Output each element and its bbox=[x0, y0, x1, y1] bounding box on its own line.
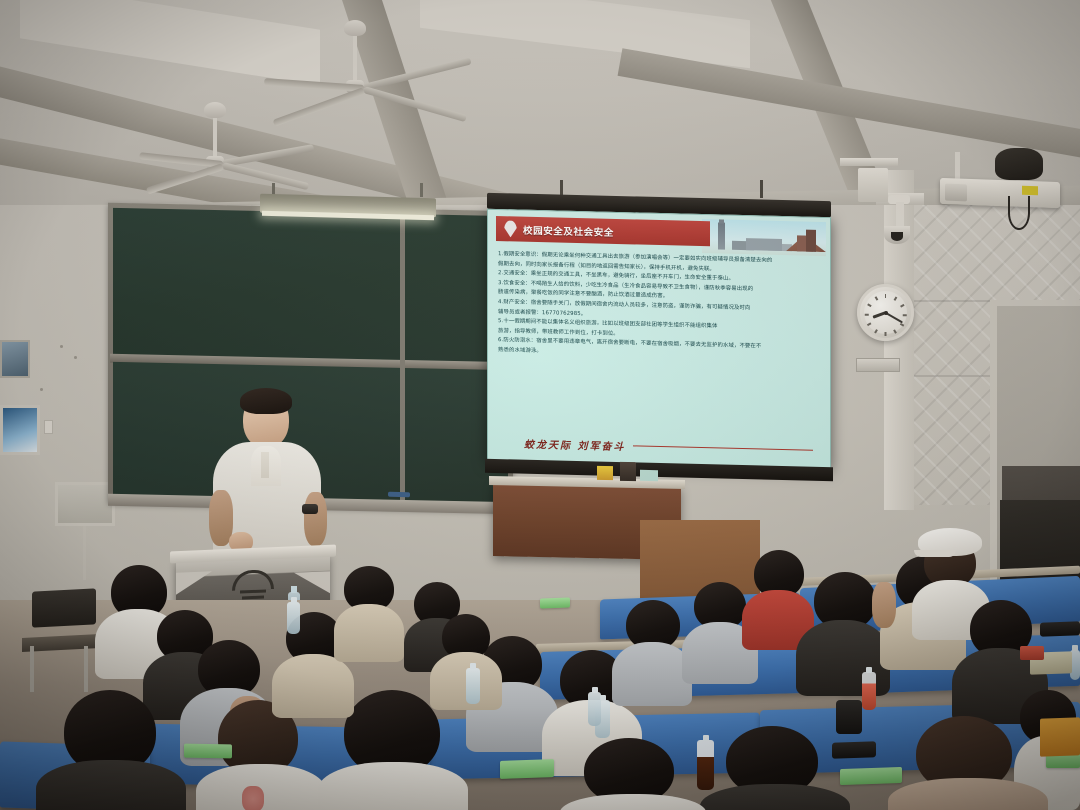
chair-back bbox=[32, 588, 96, 627]
projector-cable bbox=[1008, 196, 1030, 230]
student-shoulders bbox=[318, 762, 468, 810]
clock-face bbox=[864, 291, 907, 334]
clock-tick bbox=[885, 332, 887, 336]
student-shoulders bbox=[334, 604, 404, 662]
projector-warning-label bbox=[1022, 186, 1038, 196]
student-19 bbox=[700, 726, 850, 810]
side-chair[interactable] bbox=[22, 590, 96, 676]
student-20 bbox=[560, 738, 706, 810]
clock-center-pin bbox=[884, 311, 888, 315]
student-18 bbox=[888, 716, 1048, 810]
student-3 bbox=[36, 690, 186, 810]
clock-tick bbox=[900, 304, 904, 307]
clock-minute-hand bbox=[885, 312, 902, 323]
clock-tick bbox=[903, 314, 907, 316]
water-bottle-pink[interactable] bbox=[862, 672, 876, 710]
emblem-bar bbox=[242, 596, 264, 600]
projection-screen[interactable]: 校园安全及社会安全 1.假期安全意识：假期无论乘坐何种交通工具出去旅游（参加演唱… bbox=[487, 209, 831, 469]
podium-wing-right bbox=[294, 571, 330, 595]
wristwatch bbox=[302, 504, 318, 514]
clock-tick bbox=[900, 323, 904, 326]
green-notebook[interactable] bbox=[500, 759, 554, 779]
wall-picture-frame bbox=[0, 405, 40, 455]
banner-tower bbox=[806, 230, 816, 252]
clock-tick bbox=[874, 296, 877, 300]
projector-lens bbox=[945, 184, 967, 202]
wall-mark bbox=[74, 356, 77, 359]
wall-poster bbox=[0, 340, 30, 378]
student-shoulders bbox=[700, 784, 850, 810]
presenter-right-arm bbox=[304, 492, 327, 546]
emblem-bar bbox=[240, 589, 266, 593]
campus-skyline-banner bbox=[702, 219, 826, 256]
student-shoulders bbox=[560, 794, 706, 810]
snack-pack[interactable] bbox=[1040, 717, 1080, 756]
banner-clock-tower bbox=[718, 222, 725, 249]
board-eraser[interactable] bbox=[388, 492, 410, 497]
camera-stem bbox=[896, 202, 904, 228]
slide-title: 校园安全及社会安全 bbox=[523, 222, 614, 238]
cap-brim bbox=[914, 550, 956, 557]
security-camera-dome-icon bbox=[884, 226, 910, 244]
slide-title-bar: 校园安全及社会安全 bbox=[496, 216, 710, 246]
student-7 bbox=[334, 566, 404, 658]
clock-tick bbox=[885, 294, 887, 298]
blackboard-upper-panel[interactable] bbox=[113, 208, 508, 364]
screen-hanger bbox=[760, 180, 763, 198]
desk-equipment-box[interactable] bbox=[620, 462, 636, 481]
student-shoulders bbox=[272, 654, 354, 718]
cable-bundle bbox=[995, 148, 1043, 180]
water-bottle[interactable] bbox=[287, 602, 300, 634]
green-notebook[interactable] bbox=[840, 767, 902, 785]
slide-signature: 蛟龙天际 刘军奋斗 bbox=[524, 436, 813, 458]
clock-tick bbox=[867, 323, 871, 326]
fan-canopy bbox=[344, 20, 366, 36]
podium-wing-left bbox=[176, 571, 212, 595]
blackboard-divider bbox=[400, 207, 405, 507]
wall-switch-plate[interactable] bbox=[44, 420, 53, 434]
thermos-cup[interactable] bbox=[836, 700, 862, 734]
presenter-head bbox=[243, 392, 289, 448]
emblem-arc bbox=[232, 569, 274, 591]
chair-leg bbox=[84, 646, 88, 692]
student-shoulders bbox=[888, 778, 1048, 810]
notice-board-stand bbox=[83, 526, 86, 580]
lamp-hanger bbox=[420, 183, 423, 197]
fan-rod bbox=[353, 30, 357, 82]
student-shoulders bbox=[612, 642, 692, 706]
wall-shelf bbox=[840, 158, 898, 166]
wall-notice-board bbox=[55, 482, 115, 526]
location-pin-icon bbox=[504, 220, 517, 237]
chair-leg bbox=[30, 646, 34, 692]
green-notebook[interactable] bbox=[184, 744, 232, 759]
snack-pack[interactable] bbox=[597, 466, 613, 480]
snack-pack[interactable] bbox=[1020, 646, 1044, 660]
presentation-slide: 校园安全及社会安全 1.假期安全意识：假期无论乘坐何种交通工具出去旅游（参加演唱… bbox=[488, 210, 830, 468]
clock-tick bbox=[865, 314, 869, 316]
ceiling-panel bbox=[20, 0, 320, 86]
smartphone[interactable] bbox=[1040, 621, 1080, 636]
student-raised-arm bbox=[872, 582, 896, 628]
banner-building bbox=[746, 238, 782, 251]
wall-info-plate bbox=[856, 358, 900, 372]
water-bottle[interactable] bbox=[466, 668, 480, 704]
wall-mark bbox=[60, 345, 63, 348]
water-bottle[interactable] bbox=[588, 692, 601, 726]
presenter bbox=[213, 392, 323, 567]
student-shoulders bbox=[36, 760, 186, 810]
signature-rule bbox=[633, 445, 813, 451]
presenter-hair bbox=[240, 388, 292, 414]
clock-tick bbox=[867, 304, 871, 307]
student-11 bbox=[612, 600, 692, 700]
desk-green-item[interactable] bbox=[640, 470, 658, 481]
wall-clock bbox=[857, 284, 914, 341]
slide-body-text: 1.假期安全意识：假期无论乘坐何种交通工具出去旅游（参加演唱会等）一定要如实向班… bbox=[498, 250, 822, 428]
green-notebook[interactable] bbox=[540, 597, 570, 608]
wall-mark bbox=[40, 388, 43, 391]
lecture-hall-photo: 校园安全及社会安全 1.假期安全意识：假期无论乘坐何种交通工具出去旅游（参加演唱… bbox=[0, 0, 1080, 810]
tea-bottle[interactable] bbox=[697, 740, 714, 790]
polo-placket bbox=[261, 452, 269, 478]
clock-tick bbox=[893, 296, 896, 300]
clock-tick bbox=[893, 329, 896, 333]
smartphone[interactable] bbox=[832, 741, 876, 759]
wall-speaker bbox=[858, 168, 888, 202]
signature-text: 蛟龙天际 刘军奋斗 bbox=[524, 436, 625, 453]
clock-tick bbox=[874, 329, 877, 333]
shirt-graphic bbox=[242, 786, 264, 810]
fan-canopy bbox=[204, 102, 226, 118]
